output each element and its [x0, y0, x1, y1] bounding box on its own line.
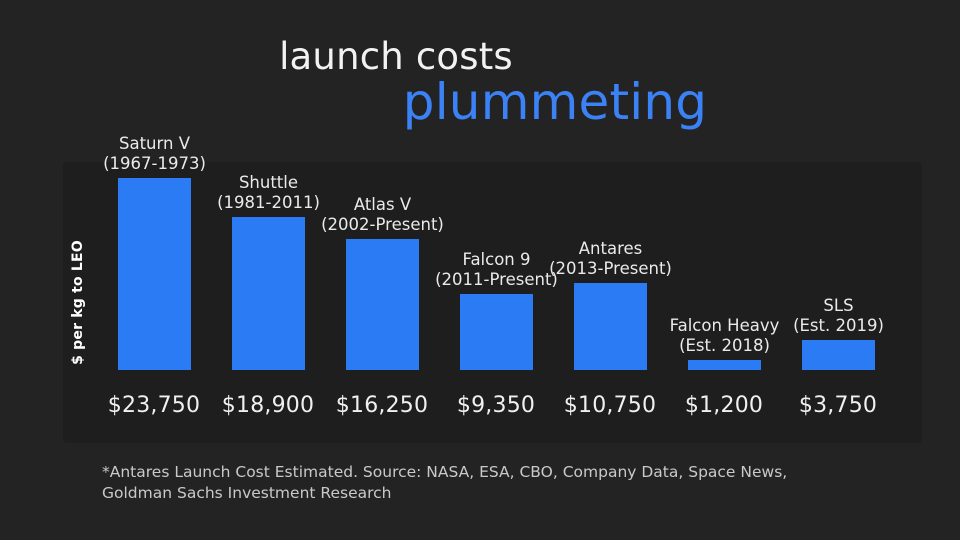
bar-category-label: Atlas V (2002-Present) — [288, 195, 478, 235]
chart-title-line-1: launch costs — [0, 38, 960, 75]
bar-column: SLS (Est. 2019) — [802, 120, 875, 370]
bar-column: Shuttle (1981-2011) — [232, 120, 305, 370]
chart-title: launch costs plummeting — [0, 38, 960, 127]
bar-column: Saturn V (1967-1973) — [118, 120, 191, 370]
bar-column: Atlas V (2002-Present) — [346, 120, 419, 370]
chart-footnote: *Antares Launch Cost Estimated. Source: … — [102, 462, 842, 504]
bar-category-label: Saturn V (1967-1973) — [60, 134, 250, 174]
bar[interactable] — [688, 360, 761, 370]
bar-chart-plot-area: Saturn V (1967-1973)Shuttle (1981-2011)A… — [100, 120, 900, 370]
bar-value-label: $3,750 — [768, 392, 908, 420]
bar[interactable] — [232, 217, 305, 370]
bar[interactable] — [802, 340, 875, 370]
bar-category-label: SLS (Est. 2019) — [744, 296, 934, 336]
bar-value-labels: $23,750$18,900$16,250$9,350$10,750$1,200… — [100, 392, 900, 420]
bar-category-label: Antares (2013-Present) — [516, 239, 706, 279]
bar[interactable] — [460, 294, 533, 370]
